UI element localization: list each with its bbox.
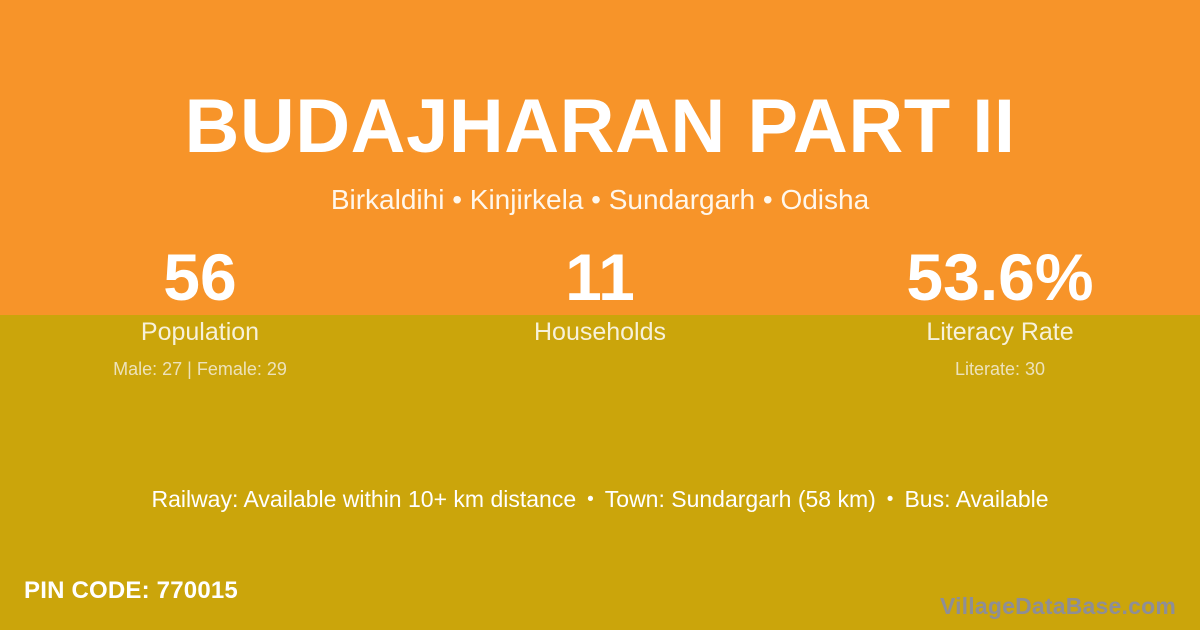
- stat-literacy-rate: 53.6% Literacy Rate Literate: 30: [800, 240, 1200, 381]
- pin-code: PIN CODE: 770015: [24, 574, 238, 608]
- transport-info-line: Railway: Available within 10+ km distanc…: [0, 484, 1200, 515]
- stat-value-households: 11: [400, 240, 800, 314]
- stat-sub-households: [400, 357, 800, 381]
- stat-value-literacy-rate: 53.6%: [800, 240, 1200, 314]
- info-separator-2: •: [876, 484, 905, 515]
- brand-watermark: VillageDataBase.com: [940, 591, 1176, 621]
- village-info-card: BUDAJHARAN PART II Birkaldihi • Kinjirke…: [0, 0, 1200, 630]
- page-title: BUDAJHARAN PART II: [0, 83, 1200, 171]
- stat-population: 56 Population Male: 27 | Female: 29: [0, 240, 400, 381]
- info-railway: Railway: Available within 10+ km distanc…: [151, 486, 576, 512]
- stat-sub-literacy-rate: Literate: 30: [800, 357, 1200, 381]
- stat-label-households: Households: [400, 316, 800, 348]
- info-bus: Bus: Available: [904, 486, 1048, 512]
- stats-row: 56 Population Male: 27 | Female: 29 11 H…: [0, 240, 1200, 381]
- card-footer: PIN CODE: 770015 VillageDataBase.com: [0, 574, 1200, 630]
- info-town: Town: Sundargarh (58 km): [605, 486, 876, 512]
- stat-value-population: 56: [0, 240, 400, 314]
- info-separator-1: •: [576, 484, 605, 515]
- stat-label-population: Population: [0, 316, 400, 348]
- breadcrumb: Birkaldihi • Kinjirkela • Sundargarh • O…: [0, 182, 1200, 218]
- stat-households: 11 Households: [400, 240, 800, 381]
- stat-sub-population: Male: 27 | Female: 29: [0, 357, 400, 381]
- stat-label-literacy-rate: Literacy Rate: [800, 316, 1200, 348]
